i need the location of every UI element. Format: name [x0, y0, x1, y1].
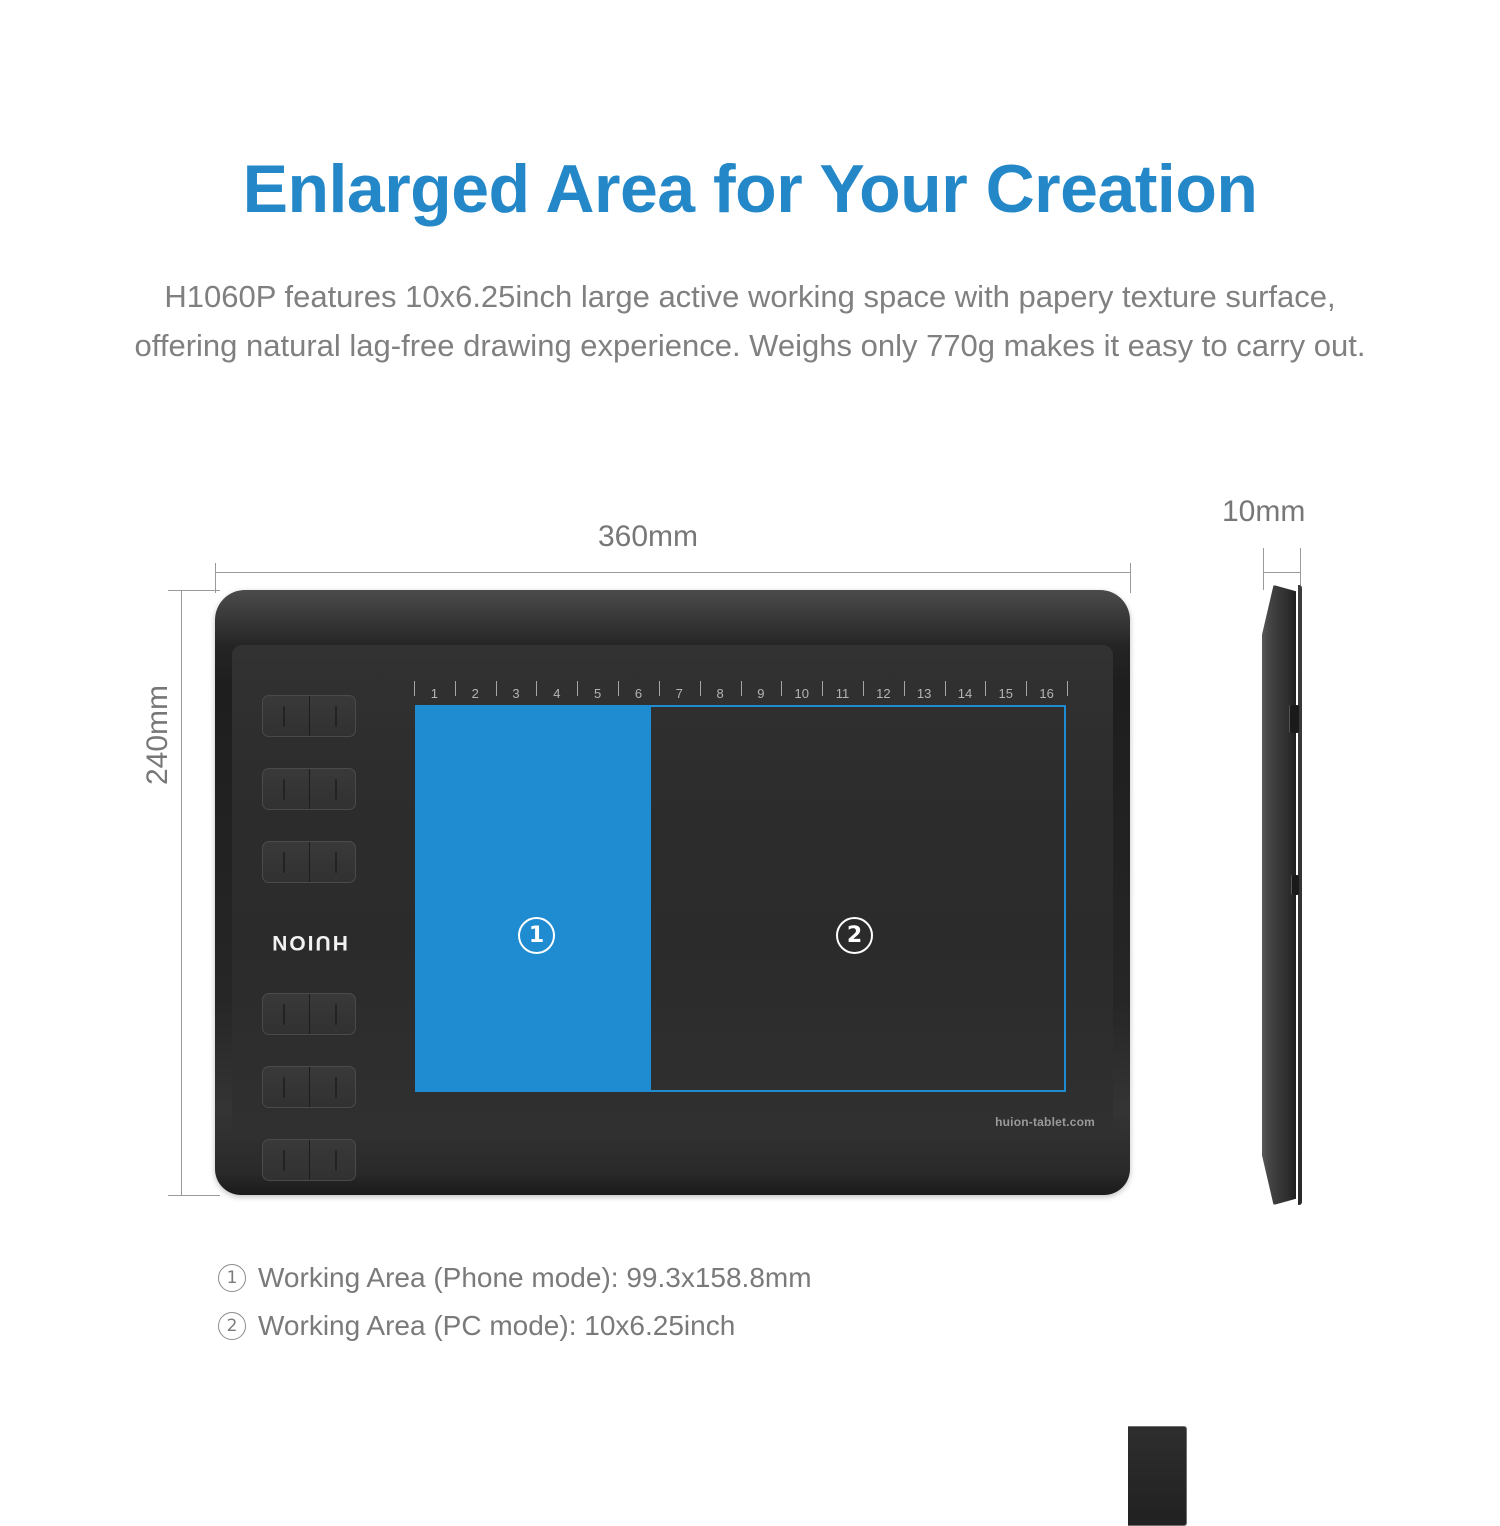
- infographic-page: Enlarged Area for Your Creation H1060P f…: [0, 0, 1500, 1500]
- ruler-tick-label: 14: [945, 686, 985, 701]
- ruler-tick: [1067, 681, 1068, 696]
- ruler-tick-label: 7: [659, 686, 699, 701]
- dim-guide-left-vertical: [215, 563, 216, 593]
- key-notch-left: [283, 852, 285, 873]
- dim-guide-bottom-tick: [168, 1195, 220, 1196]
- express-key-4[interactable]: [262, 993, 356, 1035]
- express-key-6[interactable]: [262, 1139, 356, 1181]
- key-notch-right: [335, 1077, 337, 1098]
- legend-text-1: Working Area (Phone mode): 99.3x158.8mm: [258, 1262, 812, 1294]
- key-notch-right: [335, 779, 337, 800]
- dim-guide-left-vertical-height: [181, 590, 182, 1195]
- side-port-slot: [1291, 875, 1299, 895]
- legend-item-2: 2 Working Area (PC mode): 10x6.25inch: [218, 1310, 1118, 1342]
- phone-mode-area: [417, 707, 651, 1090]
- ruler-tick-label: 11: [823, 686, 863, 701]
- dim-guide-thickness-right: [1300, 548, 1301, 590]
- thickness-dimension-label: 10mm: [1222, 495, 1305, 529]
- ruler-tick-label: 3: [496, 686, 536, 701]
- huion-brand-logo: HUION: [262, 930, 356, 954]
- ruler-tick-label: 6: [618, 686, 658, 701]
- dim-guide-right-vertical: [1130, 563, 1131, 593]
- ruler-tick-label: 13: [904, 686, 944, 701]
- dim-guide-top-horizontal: [215, 572, 1130, 573]
- key-notch-left: [283, 1004, 285, 1025]
- key-notch-right: [335, 1004, 337, 1025]
- ruler-tick-label: 16: [1027, 686, 1067, 701]
- key-notch-right: [335, 852, 337, 873]
- key-notch-left: [283, 706, 285, 727]
- area-badge-1: 1: [518, 917, 555, 954]
- usb-connector-nub: [1128, 1426, 1187, 1526]
- dim-guide-thickness-left: [1263, 548, 1264, 590]
- ruler-tick-label: 5: [578, 686, 618, 701]
- key-notch-right: [335, 1150, 337, 1171]
- key-notch-left: [283, 1077, 285, 1098]
- page-subtitle: H1060P features 10x6.25inch large active…: [130, 272, 1370, 370]
- ruler-scale: 12345678910111213141516: [414, 681, 1067, 707]
- legend-item-1: 1 Working Area (Phone mode): 99.3x158.8m…: [218, 1262, 1118, 1294]
- width-dimension-label: 360mm: [598, 520, 698, 554]
- page-title: Enlarged Area for Your Creation: [0, 150, 1500, 228]
- express-key-5[interactable]: [262, 1066, 356, 1108]
- tablet-top-view: HUION 12345678910111213141516 1 2 huion-…: [215, 590, 1130, 1195]
- dim-guide-top-tick: [168, 590, 220, 591]
- express-key-1[interactable]: [262, 695, 356, 737]
- ruler-tick-label: 4: [537, 686, 577, 701]
- ruler-tick-label: 9: [741, 686, 781, 701]
- dim-guide-thickness-horizontal: [1263, 572, 1301, 573]
- area-badge-2: 2: [836, 917, 873, 954]
- ruler-tick-label: 15: [986, 686, 1026, 701]
- site-watermark: huion-tablet.com: [995, 1115, 1095, 1129]
- legend-marker-2: 2: [218, 1312, 246, 1340]
- side-profile-edge: [1298, 585, 1302, 1205]
- tablet-top-sheen: [215, 590, 1130, 650]
- ruler-tick-label: 10: [782, 686, 822, 701]
- key-notch-left: [283, 779, 285, 800]
- ruler-tick-label: 8: [700, 686, 740, 701]
- key-notch-left: [283, 1150, 285, 1171]
- legend-list: 1 Working Area (Phone mode): 99.3x158.8m…: [218, 1262, 1118, 1358]
- side-profile-body: [1262, 585, 1296, 1205]
- express-key-2[interactable]: [262, 768, 356, 810]
- legend-marker-1: 1: [218, 1264, 246, 1292]
- legend-text-2: Working Area (PC mode): 10x6.25inch: [258, 1310, 735, 1342]
- tablet-side-view: [1262, 585, 1302, 1205]
- ruler-tick-label: 2: [455, 686, 495, 701]
- tablet-surface-panel: HUION 12345678910111213141516 1 2 huion-…: [232, 645, 1113, 1139]
- ruler-tick-label: 12: [863, 686, 903, 701]
- key-notch-right: [335, 706, 337, 727]
- height-dimension-label: 240mm: [141, 650, 175, 820]
- express-key-3[interactable]: [262, 841, 356, 883]
- ruler-tick-label: 1: [414, 686, 454, 701]
- side-port-usb: [1289, 705, 1299, 733]
